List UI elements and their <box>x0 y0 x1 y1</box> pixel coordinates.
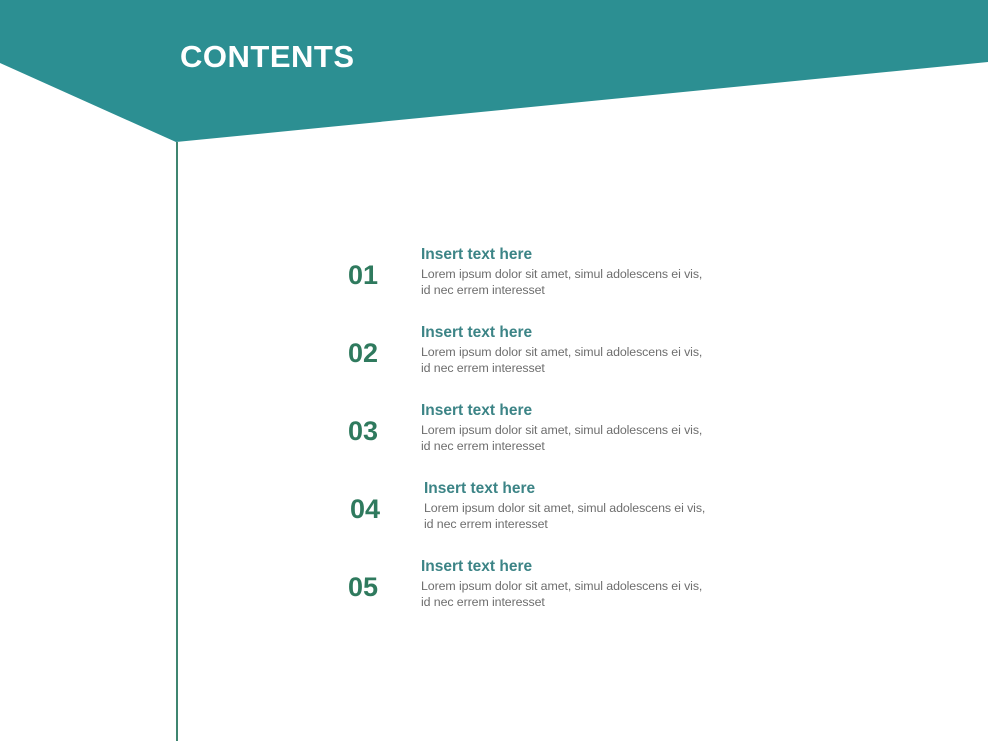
contents-list: 01 Insert text here Lorem ipsum dolor si… <box>340 238 800 628</box>
item-number: 01 <box>348 260 378 290</box>
item-body-line: id nec errem interesset <box>421 283 793 299</box>
item-text-block: Insert text here Lorem ipsum dolor sit a… <box>424 479 796 532</box>
item-text-block: Insert text here Lorem ipsum dolor sit a… <box>421 401 793 454</box>
item-body-line: Lorem ipsum dolor sit amet, simul adoles… <box>421 267 793 283</box>
item-body-line: Lorem ipsum dolor sit amet, simul adoles… <box>421 579 793 595</box>
list-item[interactable]: 03 Insert text here Lorem ipsum dolor si… <box>340 394 800 472</box>
item-body-line: id nec errem interesset <box>421 361 793 377</box>
item-body-line: id nec errem interesset <box>421 439 793 455</box>
item-number: 03 <box>348 416 378 446</box>
item-text-block: Insert text here Lorem ipsum dolor sit a… <box>421 557 793 610</box>
item-text-block: Insert text here Lorem ipsum dolor sit a… <box>421 323 793 376</box>
item-number: 02 <box>348 338 378 368</box>
item-body: Lorem ipsum dolor sit amet, simul adoles… <box>424 501 796 532</box>
item-body-line: id nec errem interesset <box>424 517 796 533</box>
item-heading: Insert text here <box>421 245 793 265</box>
item-body: Lorem ipsum dolor sit amet, simul adoles… <box>421 345 793 376</box>
item-body-line: Lorem ipsum dolor sit amet, simul adoles… <box>421 345 793 361</box>
item-heading: Insert text here <box>421 401 793 421</box>
list-item[interactable]: 04 Insert text here Lorem ipsum dolor si… <box>340 472 800 550</box>
list-item[interactable]: 01 Insert text here Lorem ipsum dolor si… <box>340 238 800 316</box>
item-heading: Insert text here <box>421 557 793 577</box>
title-banner-shape <box>0 0 988 160</box>
list-item[interactable]: 02 Insert text here Lorem ipsum dolor si… <box>340 316 800 394</box>
item-heading: Insert text here <box>421 323 793 343</box>
item-body-line: Lorem ipsum dolor sit amet, simul adoles… <box>421 423 793 439</box>
item-body-line: Lorem ipsum dolor sit amet, simul adoles… <box>424 501 796 517</box>
page-title: CONTENTS <box>180 38 355 76</box>
contents-slide: CONTENTS 01 Insert text here Lorem ipsum… <box>0 0 988 741</box>
item-heading: Insert text here <box>424 479 796 499</box>
item-body: Lorem ipsum dolor sit amet, simul adoles… <box>421 423 793 454</box>
list-item[interactable]: 05 Insert text here Lorem ipsum dolor si… <box>340 550 800 628</box>
vertical-divider <box>176 142 178 741</box>
item-body-line: id nec errem interesset <box>421 595 793 611</box>
item-text-block: Insert text here Lorem ipsum dolor sit a… <box>421 245 793 298</box>
item-number: 05 <box>348 572 378 602</box>
item-number: 04 <box>350 494 380 524</box>
item-body: Lorem ipsum dolor sit amet, simul adoles… <box>421 267 793 298</box>
item-body: Lorem ipsum dolor sit amet, simul adoles… <box>421 579 793 610</box>
